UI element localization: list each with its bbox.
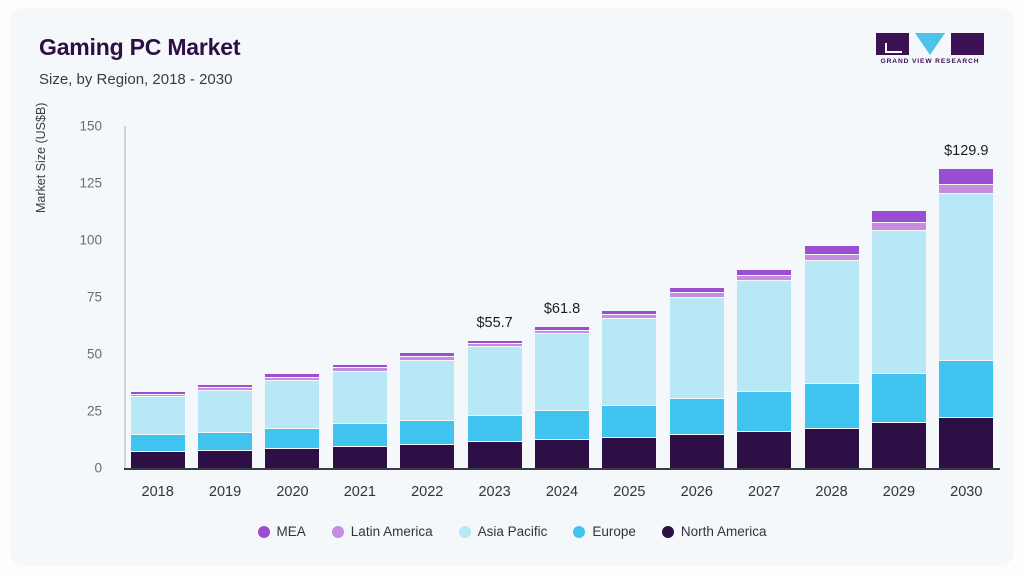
bar-segment[interactable] [535,440,589,468]
y-axis-tick: 0 [50,461,102,476]
bar-value-label: $129.9 [921,143,1011,159]
bar-segment[interactable] [602,438,656,468]
legend-label: Europe [592,524,636,539]
bar-segment[interactable] [737,392,791,433]
bar-segment[interactable] [805,246,859,254]
bar-segment[interactable] [872,374,926,423]
y-axis-ticks: 1501251007550250 [40,8,102,566]
bar-segment[interactable] [198,391,252,433]
bar-segment[interactable] [805,429,859,468]
legend-swatch-icon [258,526,270,538]
legend-swatch-icon [459,526,471,538]
y-axis-tick: 100 [50,233,102,248]
legend-item-mea[interactable]: MEA [258,524,306,539]
bar-stack[interactable] [131,392,185,468]
y-axis-tick: 75 [50,290,102,305]
y-axis-tick: 150 [50,119,102,134]
bar-segment[interactable] [872,231,926,374]
bar-stack[interactable] [805,246,859,468]
bar-segment[interactable] [468,416,522,442]
page-root: Gaming PC Market Size, by Region, 2018 -… [0,0,1024,576]
legend-swatch-icon [662,526,674,538]
bar-stack[interactable] [198,385,252,468]
bar-stack[interactable] [939,169,993,468]
bar-stack[interactable] [872,211,926,468]
bar-stack[interactable] [333,365,387,468]
bar-segment[interactable] [737,432,791,468]
bar-segment[interactable] [400,361,454,421]
bar-segment[interactable] [737,281,791,391]
chart-legend: MEALatin AmericaAsia PacificEuropeNorth … [10,524,1014,539]
bar-segment[interactable] [198,433,252,451]
bar-segment[interactable] [939,185,993,194]
bar-value-label: $55.7 [450,315,540,331]
legend-label: Latin America [351,524,433,539]
legend-item-asia-pacific[interactable]: Asia Pacific [459,524,548,539]
bar-segment[interactable] [333,372,387,425]
bar-segment[interactable] [939,194,993,362]
bar-segment[interactable] [333,447,387,468]
y-axis-tick: 125 [50,176,102,191]
bar-segment[interactable] [670,399,724,435]
bar-segment[interactable] [805,261,859,384]
bar-stack[interactable] [602,311,656,469]
bar-segment[interactable] [872,223,926,231]
legend-label: Asia Pacific [478,524,548,539]
legend-item-north-america[interactable]: North America [662,524,767,539]
bar-stack[interactable] [670,288,724,468]
bar-segment[interactable] [265,381,319,430]
legend-item-latin-america[interactable]: Latin America [332,524,433,539]
bar-segment[interactable] [602,319,656,406]
bar-segment[interactable] [602,406,656,438]
bar-segment[interactable] [468,442,522,468]
bar-segment[interactable] [939,418,993,468]
legend-item-europe[interactable]: Europe [573,524,636,539]
legend-label: MEA [277,524,306,539]
bar-stack[interactable] [535,327,589,468]
bar-segment[interactable] [535,411,589,440]
bar-segment[interactable] [939,361,993,418]
bar-segment[interactable] [670,298,724,399]
bar-segment[interactable] [198,451,252,468]
bar-segment[interactable] [400,445,454,468]
chart-plot-area: Market Size (US$B) 1501251007550250 2018… [10,8,1014,566]
legend-label: North America [681,524,767,539]
bar-segment[interactable] [131,452,185,468]
bar-segment[interactable] [535,334,589,411]
bar-segment[interactable] [872,423,926,468]
legend-swatch-icon [332,526,344,538]
bar-segment[interactable] [872,211,926,223]
bar-stack[interactable] [265,374,319,468]
legend-swatch-icon [573,526,585,538]
y-axis-tick: 25 [50,404,102,419]
bar-segment[interactable] [805,384,859,429]
x-axis-tick: 2030 [926,484,1006,500]
bar-stack[interactable] [400,353,454,468]
bar-segment[interactable] [265,429,319,449]
bar-segment[interactable] [131,435,185,452]
bar-segment[interactable] [265,449,319,468]
bar-segment[interactable] [468,347,522,416]
bar-stack[interactable] [737,270,791,468]
bar-segment[interactable] [939,169,993,185]
bar-series-container [124,8,1000,566]
bar-segment[interactable] [333,424,387,446]
y-axis-tick: 50 [50,347,102,362]
bar-segment[interactable] [400,421,454,445]
bar-stack[interactable] [468,341,522,468]
chart-card: Gaming PC Market Size, by Region, 2018 -… [10,8,1014,566]
bar-value-label: $61.8 [517,301,607,317]
bar-segment[interactable] [131,397,185,435]
bar-segment[interactable] [670,435,724,468]
